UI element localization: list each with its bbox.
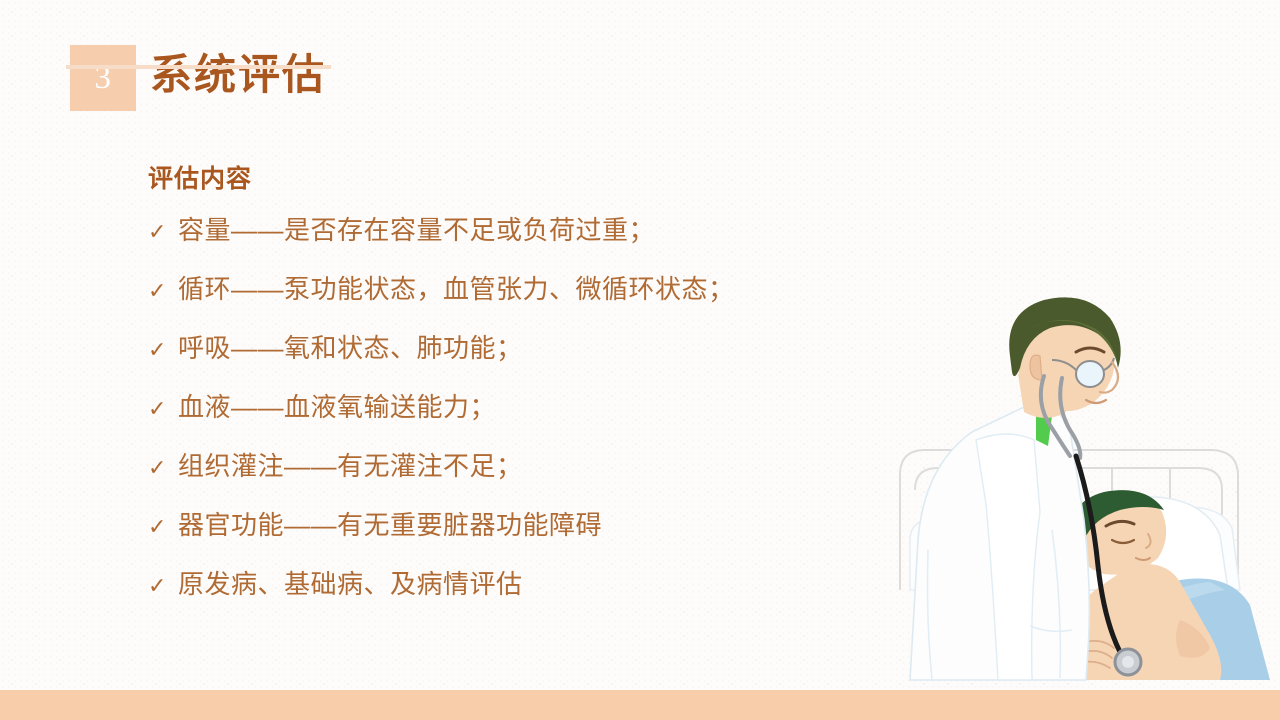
page-title: 系统评估 xyxy=(150,47,326,103)
list-item: ✓ 原发病、基础病、及病情评估 xyxy=(148,565,888,605)
doctor-hair-highlight xyxy=(1032,320,1118,364)
patient-chest-shading xyxy=(1176,620,1210,658)
list-item-label: 血液——血液氧输送能力； xyxy=(178,388,496,426)
title-underline xyxy=(66,65,331,69)
check-icon: ✓ xyxy=(148,449,178,487)
doctor-examining-patient-illustration xyxy=(880,290,1280,690)
list-item-label: 器官功能——有无重要脏器功能障碍 xyxy=(178,506,602,544)
list-item: ✓ 组织灌注——有无灌注不足； xyxy=(148,447,888,487)
check-icon: ✓ xyxy=(148,331,178,369)
list-item: ✓ 器官功能——有无重要脏器功能障碍 xyxy=(148,506,888,546)
list-item: ✓ 血液——血液氧输送能力； xyxy=(148,388,888,428)
doctor-coat-lapel xyxy=(976,434,1040,680)
doctor-eyebrow xyxy=(1076,348,1104,352)
patient-eyebrow xyxy=(1106,521,1134,526)
patient-mouth xyxy=(1136,558,1150,560)
list-item: ✓ 容量——是否存在容量不足或负荷过重； xyxy=(148,211,888,251)
assessment-bullet-list: ✓ 容量——是否存在容量不足或负荷过重； ✓ 循环——泵功能状态，血管张力、微循… xyxy=(148,211,888,605)
glasses-icon xyxy=(1052,358,1114,387)
check-icon: ✓ xyxy=(148,390,178,428)
content-block: 评估内容 ✓ 容量——是否存在容量不足或负荷过重； ✓ 循环——泵功能状态，血管… xyxy=(148,163,888,624)
patient-arm xyxy=(1032,630,1121,680)
doctor-mouth xyxy=(1086,400,1106,403)
blanket-fold xyxy=(1135,582,1225,620)
list-item-label: 原发病、基础病、及病情评估 xyxy=(178,565,523,603)
list-item: ✓ 循环——泵功能状态，血管张力、微循环状态； xyxy=(148,270,888,310)
check-icon: ✓ xyxy=(148,508,178,546)
doctor-head xyxy=(1016,306,1115,412)
slide-canvas: 3 系统评估 评估内容 ✓ 容量——是否存在容量不足或负荷过重； ✓ 循环——泵… xyxy=(0,0,1280,720)
coat-pocket xyxy=(1030,626,1072,631)
list-item: ✓ 呼吸——氧和状态、肺功能； xyxy=(148,329,888,369)
blanket xyxy=(990,578,1270,680)
pillow xyxy=(1045,497,1228,590)
mattress xyxy=(910,507,1240,590)
patient-head xyxy=(1076,495,1167,575)
check-icon: ✓ xyxy=(148,567,178,605)
stethoscope-icon xyxy=(1041,376,1141,675)
list-item-label: 容量——是否存在容量不足或负荷过重； xyxy=(178,211,655,249)
check-icon: ✓ xyxy=(148,272,178,310)
list-item-label: 呼吸——氧和状态、肺功能； xyxy=(178,329,523,367)
list-item-label: 组织灌注——有无灌注不足； xyxy=(178,447,523,485)
check-icon: ✓ xyxy=(148,213,178,251)
doctor-ear xyxy=(1030,355,1042,380)
content-heading: 评估内容 xyxy=(148,163,888,195)
list-item-label: 循环——泵功能状态，血管张力、微循环状态； xyxy=(178,270,735,308)
doctor-coat xyxy=(910,406,1089,680)
bottom-accent-band xyxy=(0,690,1280,720)
doctor-nose xyxy=(1100,362,1118,393)
section-number-badge: 3 xyxy=(70,45,136,111)
doctor-hair xyxy=(1009,297,1120,376)
patient-eye-closed xyxy=(1112,540,1134,543)
patient-hand-fingers xyxy=(1084,641,1114,668)
coat-crease-left xyxy=(928,550,933,680)
doctor-badge-icon xyxy=(1036,410,1052,446)
coat-crease-right xyxy=(1052,530,1060,678)
doctor-neck xyxy=(1018,366,1066,418)
patient-nose xyxy=(1146,534,1151,548)
patient-hair xyxy=(1070,490,1164,562)
bed-frame xyxy=(900,450,1238,590)
patient-torso xyxy=(1068,564,1221,680)
